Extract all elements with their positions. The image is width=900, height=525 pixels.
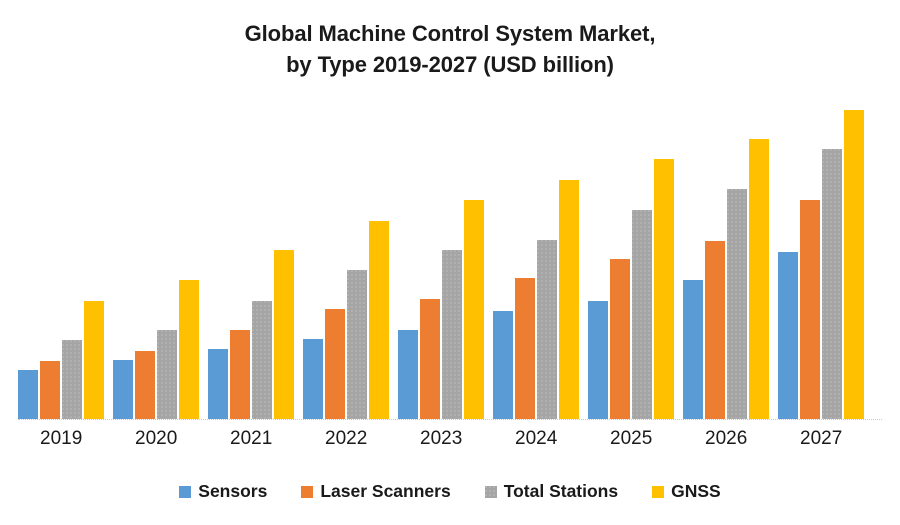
legend-swatch-gnss-icon [652, 486, 664, 498]
bar-total-2025[interactable] [632, 210, 652, 419]
chart-title-line-1: Global Machine Control System Market, [0, 18, 900, 49]
legend-item-gnss[interactable]: GNSS [652, 481, 721, 502]
chart-legend: SensorsLaser ScannersTotal StationsGNSS [0, 481, 900, 502]
bar-gnss-2023[interactable] [464, 200, 484, 419]
bar-total-2023[interactable] [442, 250, 462, 419]
bars [683, 139, 769, 419]
bar-sensors-2024[interactable] [493, 311, 513, 419]
bar-sensors-2023[interactable] [398, 330, 418, 419]
bar-sensors-2026[interactable] [683, 280, 703, 419]
bar-gnss-2020[interactable] [179, 280, 199, 419]
bar-total-2024[interactable] [537, 240, 557, 419]
bar-laser-2027[interactable] [800, 200, 820, 419]
legend-item-sensors[interactable]: Sensors [179, 481, 267, 502]
bar-sensors-2027[interactable] [778, 252, 798, 419]
bar-laser-2020[interactable] [135, 351, 155, 419]
bars [493, 180, 579, 419]
bar-total-2019[interactable] [62, 340, 82, 419]
bar-group-2021 [208, 110, 303, 419]
bars [588, 159, 674, 419]
chart-title: Global Machine Control System Market, by… [0, 18, 900, 80]
bars [303, 221, 389, 419]
x-axis-label-2027: 2027 [778, 428, 873, 450]
legend-swatch-sensors-icon [179, 486, 191, 498]
x-axis-label-2023: 2023 [398, 428, 493, 450]
x-axis-label-2021: 2021 [208, 428, 303, 450]
bar-total-2027[interactable] [822, 149, 842, 419]
bar-group-2020 [113, 110, 208, 419]
bars [208, 250, 294, 419]
legend-label-total: Total Stations [504, 481, 618, 502]
bar-total-2022[interactable] [347, 270, 367, 419]
bar-group-2022 [303, 110, 398, 419]
bar-gnss-2022[interactable] [369, 221, 389, 419]
bar-total-2021[interactable] [252, 301, 272, 419]
bar-group-2019 [18, 110, 113, 419]
bar-gnss-2027[interactable] [844, 110, 864, 419]
bar-laser-2021[interactable] [230, 330, 250, 419]
bar-group-2026 [683, 110, 778, 419]
bar-gnss-2021[interactable] [274, 250, 294, 419]
bar-total-2026[interactable] [727, 189, 747, 419]
bars [113, 280, 199, 419]
x-axis-labels: 201920202021202220232024202520262027 [18, 428, 882, 450]
legend-item-total[interactable]: Total Stations [485, 481, 618, 502]
legend-label-laser: Laser Scanners [320, 481, 450, 502]
bar-gnss-2026[interactable] [749, 139, 769, 419]
bar-gnss-2024[interactable] [559, 180, 579, 419]
legend-swatch-total-icon [485, 486, 497, 498]
bar-laser-2019[interactable] [40, 361, 60, 419]
bars [398, 200, 484, 419]
bar-gnss-2019[interactable] [84, 301, 104, 419]
bar-gnss-2025[interactable] [654, 159, 674, 419]
bar-laser-2022[interactable] [325, 309, 345, 419]
chart-title-line-2: by Type 2019-2027 (USD billion) [0, 49, 900, 80]
bar-laser-2026[interactable] [705, 241, 725, 419]
bars [18, 301, 104, 419]
bar-laser-2024[interactable] [515, 278, 535, 419]
legend-swatch-laser-icon [301, 486, 313, 498]
legend-label-gnss: GNSS [671, 481, 721, 502]
legend-label-sensors: Sensors [198, 481, 267, 502]
chart-container: Global Machine Control System Market, by… [0, 0, 900, 525]
bar-sensors-2019[interactable] [18, 370, 38, 419]
bar-total-2020[interactable] [157, 330, 177, 419]
bar-laser-2023[interactable] [420, 299, 440, 419]
bar-group-2027 [778, 110, 873, 419]
bar-sensors-2025[interactable] [588, 301, 608, 419]
bars [778, 110, 864, 419]
bar-groups [18, 110, 882, 419]
bar-group-2024 [493, 110, 588, 419]
bar-sensors-2022[interactable] [303, 339, 323, 419]
x-axis-label-2024: 2024 [493, 428, 588, 450]
plot-area [18, 110, 882, 420]
x-axis-label-2020: 2020 [113, 428, 208, 450]
bar-group-2023 [398, 110, 493, 419]
legend-item-laser[interactable]: Laser Scanners [301, 481, 450, 502]
x-axis-label-2022: 2022 [303, 428, 398, 450]
x-axis-label-2025: 2025 [588, 428, 683, 450]
x-axis-label-2019: 2019 [18, 428, 113, 450]
bar-sensors-2020[interactable] [113, 360, 133, 419]
bar-laser-2025[interactable] [610, 259, 630, 419]
x-axis-label-2026: 2026 [683, 428, 778, 450]
bar-group-2025 [588, 110, 683, 419]
x-axis-line [18, 419, 882, 420]
bar-sensors-2021[interactable] [208, 349, 228, 419]
